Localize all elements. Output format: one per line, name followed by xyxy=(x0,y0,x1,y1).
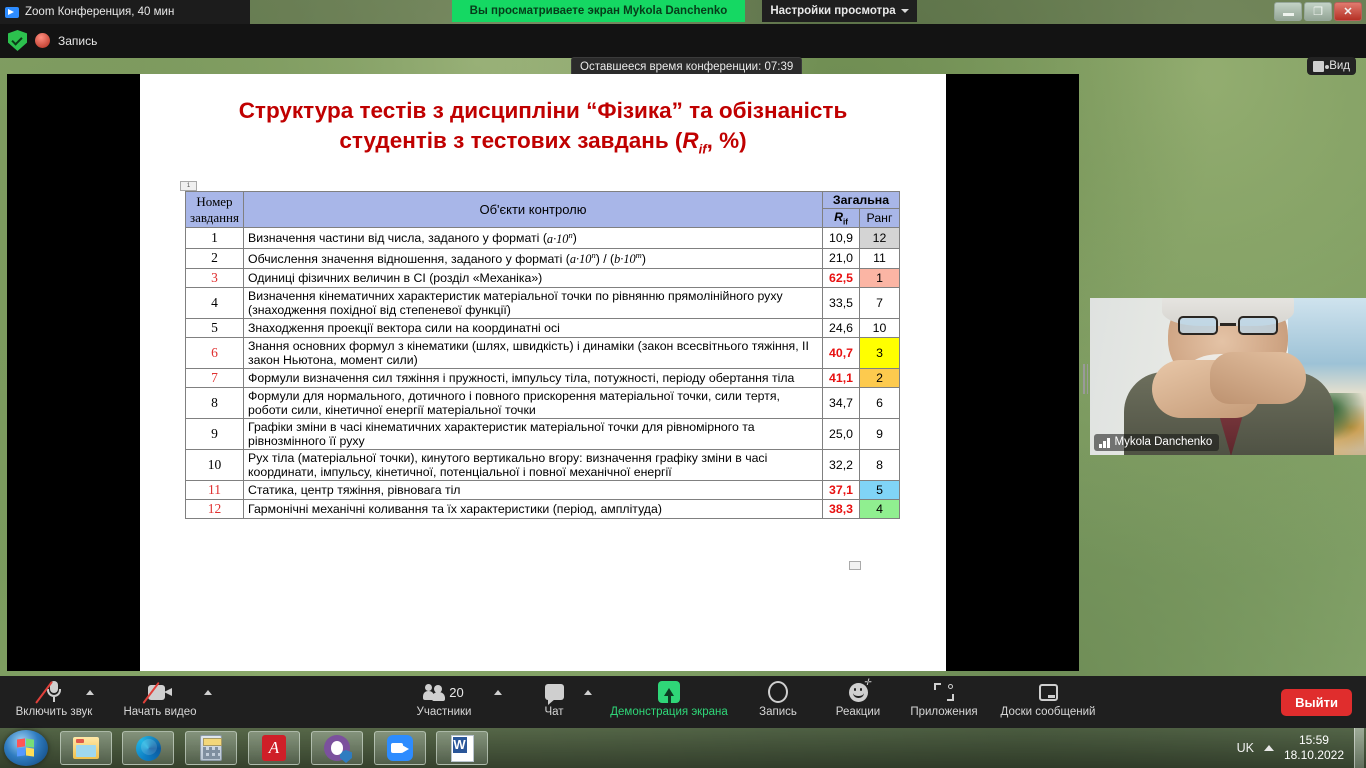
table-row: 3 Одиниці фізичних величин в СІ (розділ … xyxy=(186,268,900,287)
recording-indicator[interactable]: Запись xyxy=(8,30,97,51)
record-dot-icon xyxy=(35,33,50,48)
zoom-logo-icon xyxy=(5,7,19,18)
system-tray: UK 15:59 18.10.2022 xyxy=(1237,728,1364,768)
language-indicator[interactable]: UK xyxy=(1237,741,1254,755)
cell-task-number: 10 xyxy=(186,449,244,480)
table-row: 7 Формули визначення сил тяжіння і пружн… xyxy=(186,368,900,387)
cell-rif: 62,5 xyxy=(823,268,860,287)
screen-share-banner-text: Вы просматриваете экран Mykola Danchenko xyxy=(470,5,728,17)
cell-task-number: 6 xyxy=(186,337,244,368)
window-controls: ✕ xyxy=(1274,2,1362,22)
cell-rif: 24,6 xyxy=(823,318,860,337)
header-rank: Ранг xyxy=(860,209,900,228)
cell-objects: Рух тіла (матеріальної точки), кинутого … xyxy=(244,449,823,480)
table-row: 5 Знаходження проекції вектора сили на к… xyxy=(186,318,900,337)
cell-objects-text: Обчислення значення відношення, заданого… xyxy=(248,252,570,266)
edge-icon xyxy=(136,736,161,761)
leave-meeting-button[interactable]: Выйти xyxy=(1281,689,1352,716)
results-table: Номер завдання Об'єкти контролю Загальна… xyxy=(185,191,900,519)
word-icon xyxy=(451,735,474,762)
cell-formula-2: b·10m xyxy=(614,252,642,266)
cell-task-number: 9 xyxy=(186,418,244,449)
share-screen-label: Демонстрация экрана xyxy=(610,706,728,718)
share-screen-icon xyxy=(658,680,680,704)
glasses-lens-right xyxy=(1238,316,1278,335)
participant-glasses xyxy=(1176,316,1280,336)
viber-icon xyxy=(324,735,350,761)
microphone-muted-icon xyxy=(47,680,61,704)
cell-formula-base: a·10 xyxy=(547,232,569,246)
cell-objects: Обчислення значення відношення, заданого… xyxy=(244,248,823,268)
layout-view-icon xyxy=(1313,61,1324,72)
slide-title-line2-pre: студентів з тестових завдань ( xyxy=(339,128,682,153)
cell-rank: 8 xyxy=(860,449,900,480)
video-panel-drag-handle[interactable] xyxy=(1082,362,1089,396)
clock-time: 15:59 xyxy=(1299,733,1329,747)
window-titlebar: Zoom Конференция, 40 мин Вы просматривае… xyxy=(0,0,1366,24)
taskbar-item-viber[interactable] xyxy=(311,731,363,765)
participants-button[interactable]: 20 Участники xyxy=(404,680,484,726)
camera-muted-icon xyxy=(148,680,172,704)
audio-options-caret-icon[interactable] xyxy=(86,690,94,695)
glasses-bridge xyxy=(1220,323,1236,326)
participant-name-badge: Mykola Danchenko xyxy=(1094,434,1219,451)
header-task-number: Номер завдання xyxy=(186,192,244,228)
table-row: 4 Визначення кінематичних характеристик … xyxy=(186,287,900,318)
cell-rank: 11 xyxy=(860,248,900,268)
cell-objects: Формули для нормального, дотичного і пов… xyxy=(244,387,823,418)
cell-rank: 2 xyxy=(860,368,900,387)
shared-screen-stage: Структура тестів з дисципліни “Фізика” т… xyxy=(7,74,1079,671)
cell-objects-text-end: ) xyxy=(573,232,577,246)
start-button[interactable] xyxy=(4,730,48,766)
cell-objects: Графіки зміни в часі кінематичних характ… xyxy=(244,418,823,449)
participants-label: Участники xyxy=(417,706,472,718)
unmute-button[interactable]: Включить звук xyxy=(14,680,94,726)
screen-share-banner: Вы просматриваете экран Mykola Danchenko xyxy=(452,0,745,22)
signal-bars-icon xyxy=(1099,437,1110,448)
cell-objects-text-end: ) xyxy=(642,252,646,266)
header-total: Загальна xyxy=(823,192,900,209)
header-rif-symbol: R xyxy=(834,210,843,224)
zoom-window-title: Zoom Конференция, 40 мин xyxy=(0,0,250,24)
cell-formula: a·10n xyxy=(570,252,596,266)
cell-objects-text: Визначення частини від числа, заданого у… xyxy=(248,232,547,246)
whiteboards-label: Доски сообщений xyxy=(1001,706,1096,718)
chevron-down-icon xyxy=(901,9,909,13)
cell-formula: a·10n xyxy=(547,232,573,246)
cell-task-number: 4 xyxy=(186,287,244,318)
cell-rif: 41,1 xyxy=(823,368,860,387)
windows-taskbar: A UK 15:59 18.10.2022 xyxy=(0,728,1366,768)
cell-task-number: 12 xyxy=(186,499,244,518)
cell-objects-text-mid: ) / ( xyxy=(596,252,614,266)
reactions-smiley-icon: ✛ xyxy=(849,680,868,704)
windows-logo-icon xyxy=(17,739,35,757)
share-screen-button[interactable]: Демонстрация экрана xyxy=(596,680,742,726)
taskbar-item-acrobat[interactable]: A xyxy=(248,731,300,765)
cell-objects: Визначення кінематичних характеристик ма… xyxy=(244,287,823,318)
start-video-label: Начать видео xyxy=(123,706,196,718)
zoom-toolbar: Включить звук Начать видео 20 Участники … xyxy=(0,676,1366,728)
clock-date: 18.10.2022 xyxy=(1284,748,1344,762)
cell-rank: 9 xyxy=(860,418,900,449)
cell-task-number: 3 xyxy=(186,268,244,287)
table-row: 9 Графіки зміни в часі кінематичних хара… xyxy=(186,418,900,449)
header-rif: Rif xyxy=(823,209,860,228)
table-row: 6 Знання основних формул з кінематики (ш… xyxy=(186,337,900,368)
cell-rank: 4 xyxy=(860,499,900,518)
cell-rif: 32,2 xyxy=(823,449,860,480)
cell-task-number: 2 xyxy=(186,248,244,268)
table-row: 10 Рух тіла (матеріальної точки), кинуто… xyxy=(186,449,900,480)
cell-rif: 40,7 xyxy=(823,337,860,368)
record-button[interactable]: Запись xyxy=(744,680,812,726)
cell-formula-base: a·10 xyxy=(570,252,592,266)
cell-rif: 34,7 xyxy=(823,387,860,418)
table-header-row-1: Номер завдання Об'єкти контролю Загальна xyxy=(186,192,900,209)
cell-rank: 7 xyxy=(860,287,900,318)
participant-hand-right xyxy=(1210,352,1306,404)
restore-button[interactable] xyxy=(1304,2,1332,21)
zoom-icon xyxy=(387,735,413,761)
taskbar-item-calculator[interactable] xyxy=(185,731,237,765)
slide-title-symbol-r: R xyxy=(682,128,698,153)
cell-rif: 10,9 xyxy=(823,228,860,248)
header-control-objects: Об'єкти контролю xyxy=(244,192,823,228)
cell-task-number: 1 xyxy=(186,228,244,248)
record-label: Запись xyxy=(759,706,797,718)
show-desktop-button[interactable] xyxy=(1354,728,1364,768)
cell-objects: Гармонічні механічні коливання та їх хар… xyxy=(244,499,823,518)
table-row: 12 Гармонічні механічні коливання та їх … xyxy=(186,499,900,518)
video-options-caret-icon[interactable] xyxy=(204,690,212,695)
glasses-lens-left xyxy=(1178,316,1218,335)
whiteboard-icon xyxy=(1039,680,1058,704)
apps-icon xyxy=(934,680,954,704)
table-row: 11 Статика, центр тяжіння, рівновага тіл… xyxy=(186,480,900,499)
record-circle-icon xyxy=(768,680,788,704)
apps-button[interactable]: Приложения xyxy=(898,680,990,726)
clock[interactable]: 15:59 18.10.2022 xyxy=(1284,733,1344,763)
cell-rif: 25,0 xyxy=(823,418,860,449)
start-video-button[interactable]: Начать видео xyxy=(120,680,200,726)
cell-objects: Визначення частини від числа, заданого у… xyxy=(244,228,823,248)
chat-caret-icon[interactable] xyxy=(584,690,592,695)
acrobat-reader-icon: A xyxy=(262,735,286,761)
cell-objects: Знаходження проекції вектора сили на коо… xyxy=(244,318,823,337)
slide-title-symbol-sub: if xyxy=(699,141,707,156)
chat-label: Чат xyxy=(544,706,563,718)
cell-rank: 3 xyxy=(860,337,900,368)
participants-icon: 20 xyxy=(424,680,463,704)
table-row: 2 Обчислення значення відношення, задано… xyxy=(186,248,900,268)
cell-rank: 10 xyxy=(860,318,900,337)
shield-icon xyxy=(8,30,27,51)
spreadsheet-scroll-nub[interactable] xyxy=(849,561,861,570)
whiteboards-button[interactable]: Доски сообщений xyxy=(986,680,1110,726)
participants-caret-icon[interactable] xyxy=(494,690,502,695)
view-button[interactable]: Вид xyxy=(1307,57,1356,75)
cell-rif: 37,1 xyxy=(823,480,860,499)
spreadsheet-corner-marker: 1 xyxy=(180,181,197,191)
cell-task-number: 5 xyxy=(186,318,244,337)
meeting-status-bar: Запись Оставшееся время конференции: 07:… xyxy=(0,24,1366,58)
participant-video-tile[interactable]: Mykola Danchenko xyxy=(1090,298,1366,455)
cell-rank: 1 xyxy=(860,268,900,287)
cell-objects: Формули визначення сил тяжіння і пружнос… xyxy=(244,368,823,387)
recording-label: Запись xyxy=(58,34,97,48)
taskbar-item-word[interactable] xyxy=(436,731,488,765)
cell-task-number: 11 xyxy=(186,480,244,499)
taskbar-item-explorer[interactable] xyxy=(60,731,112,765)
slide-title: Структура тестів з дисципліни “Фізика” т… xyxy=(166,96,920,157)
slide-title-line1: Структура тестів з дисципліни “Фізика” т… xyxy=(239,98,848,123)
reactions-button[interactable]: ✛ Реакции xyxy=(822,680,894,726)
apps-label: Приложения xyxy=(910,706,977,718)
cell-task-number: 7 xyxy=(186,368,244,387)
presentation-slide: Структура тестів з дисципліни “Фізика” т… xyxy=(140,74,946,671)
window-title-text: Zoom Конференция, 40 мин xyxy=(25,6,174,18)
cell-objects: Знання основних формул з кінематики (шля… xyxy=(244,337,823,368)
cell-rank: 6 xyxy=(860,387,900,418)
cell-objects: Статика, центр тяжіння, рівновага тіл xyxy=(244,480,823,499)
show-hidden-icons-icon[interactable] xyxy=(1264,745,1274,751)
table-row: 1 Визначення частини від числа, заданого… xyxy=(186,228,900,248)
chat-button[interactable]: Чат xyxy=(528,680,580,726)
taskbar-item-edge[interactable] xyxy=(122,731,174,765)
cell-rank: 5 xyxy=(860,480,900,499)
reactions-label: Реакции xyxy=(836,706,880,718)
zoom-meeting-window: Zoom Конференция, 40 мин Вы просматривае… xyxy=(0,0,1366,728)
calculator-icon xyxy=(200,735,222,761)
unmute-label: Включить звук xyxy=(16,706,93,718)
slide-title-line2-post: , %) xyxy=(707,128,747,153)
participants-count: 20 xyxy=(449,685,463,700)
cell-rif: 33,5 xyxy=(823,287,860,318)
view-options-label: Настройки просмотра xyxy=(770,5,895,17)
cell-rank: 12 xyxy=(860,228,900,248)
view-options-button[interactable]: Настройки просмотра xyxy=(762,0,917,22)
participant-name-label: Mykola Danchenko xyxy=(1115,436,1213,448)
table-row: 8 Формули для нормального, дотичного і п… xyxy=(186,387,900,418)
close-button[interactable]: ✕ xyxy=(1334,2,1362,21)
header-rif-sub: if xyxy=(843,217,848,226)
cell-objects: Одиниці фізичних величин в СІ (розділ «М… xyxy=(244,268,823,287)
explorer-icon xyxy=(73,737,99,759)
cell-rif: 21,0 xyxy=(823,248,860,268)
chat-bubble-icon xyxy=(545,680,564,704)
cell-task-number: 8 xyxy=(186,387,244,418)
view-button-label: Вид xyxy=(1329,60,1350,72)
minimize-button[interactable] xyxy=(1274,2,1302,21)
taskbar-item-zoom[interactable] xyxy=(374,731,426,765)
cell-formula2-base: b·10 xyxy=(614,252,636,266)
cell-rif: 38,3 xyxy=(823,499,860,518)
